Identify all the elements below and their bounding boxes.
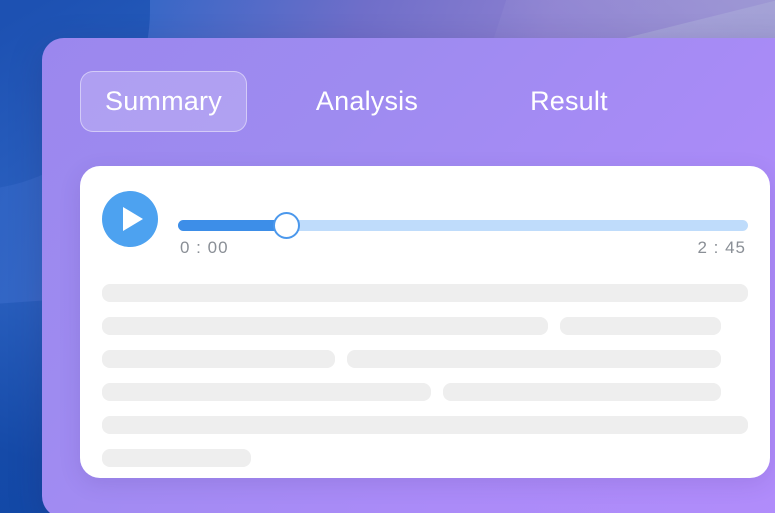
progress-track[interactable] — [178, 220, 748, 231]
skeleton-bar — [102, 284, 748, 302]
content-card: 0 : 00 2 : 45 — [80, 166, 770, 478]
skeleton-bar — [443, 383, 721, 401]
background-artwork: Summary Analysis Result 0 : 00 2 : 45 — [0, 0, 775, 513]
skeleton-bar — [102, 416, 748, 434]
purple-panel: Summary Analysis Result 0 : 00 2 : 45 — [42, 38, 775, 513]
tab-summary[interactable]: Summary — [80, 71, 247, 132]
skeleton-row — [102, 284, 748, 302]
tab-result[interactable]: Result — [505, 71, 633, 132]
skeleton-row — [102, 416, 748, 434]
skeleton-bar — [347, 350, 722, 368]
play-button[interactable] — [102, 191, 158, 247]
skeleton-row — [102, 317, 748, 335]
skeleton-bar — [102, 383, 431, 401]
progress-slider[interactable] — [178, 210, 748, 246]
skeleton-placeholder — [102, 284, 748, 482]
skeleton-bar — [102, 317, 548, 335]
tab-bar: Summary Analysis Result — [80, 71, 633, 132]
current-time-label: 0 : 00 — [180, 238, 229, 258]
total-time-label: 2 : 45 — [697, 238, 746, 258]
skeleton-bar — [560, 317, 722, 335]
progress-thumb[interactable] — [273, 212, 300, 239]
skeleton-row — [102, 350, 748, 368]
tab-analysis[interactable]: Analysis — [291, 71, 443, 132]
progress-fill — [178, 220, 286, 231]
skeleton-bar — [102, 350, 335, 368]
play-triangle-icon — [123, 207, 143, 231]
skeleton-row — [102, 383, 748, 401]
skeleton-row — [102, 449, 748, 467]
skeleton-bar — [102, 449, 251, 467]
audio-player: 0 : 00 2 : 45 — [102, 188, 748, 266]
